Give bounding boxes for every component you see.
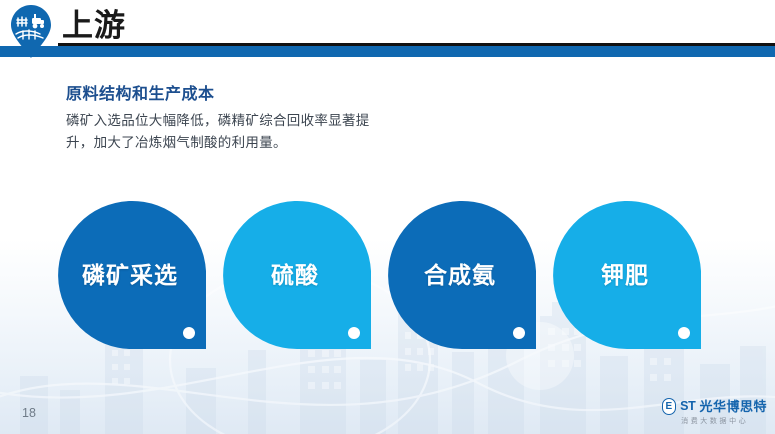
process-drop-row: 磷矿采选 硫酸 合成氨 钾肥 (58, 197, 758, 352)
teardrop-shape-icon (223, 197, 371, 349)
drop-dot-3 (513, 327, 525, 339)
drop-fill-3 (388, 201, 536, 349)
drop-item-1[interactable]: 磷矿采选 (58, 197, 206, 349)
slide: 上游 原料结构和生产成本 磷矿入选品位大幅降低，磷精矿综合回收率显著提升，加大了… (0, 0, 775, 434)
drop-dot-1 (183, 327, 195, 339)
teardrop-shape-icon (553, 197, 701, 349)
footer-logo-subtitle: 消费大数据中心 (681, 418, 748, 425)
drop-dot-2 (348, 327, 360, 339)
drop-item-4[interactable]: 钾肥 (553, 197, 701, 349)
title-underline (58, 43, 775, 46)
page-title: 上游 (62, 6, 126, 46)
footer-logo-est: ST (680, 400, 695, 413)
footer-logo-mark-letter: E (665, 402, 672, 412)
header-accent-bar (0, 46, 775, 57)
drop-fill-2 (223, 201, 371, 349)
content-paragraph: 磷矿入选品位大幅降低，磷精矿综合回收率显著提升，加大了冶炼烟气制酸的利用量。 (66, 110, 396, 154)
drop-fill-1 (58, 201, 206, 349)
drop-item-3[interactable]: 合成氨 (388, 197, 536, 349)
best-logo-mark-icon: E (662, 398, 676, 415)
content-block: 原料结构和生产成本 磷矿入选品位大幅降低，磷精矿综合回收率显著提升，加大了冶炼烟… (66, 84, 486, 154)
teardrop-shape-icon (58, 197, 206, 349)
teardrop-shape-icon (388, 197, 536, 349)
content-heading: 原料结构和生产成本 (66, 84, 486, 106)
drop-fill-4 (553, 201, 701, 349)
footer-logo-cn: 光华博思特 (699, 400, 767, 414)
drop-item-2[interactable]: 硫酸 (223, 197, 371, 349)
footer-logo: E ST 光华博思特 消费大数据中心 (662, 398, 767, 425)
footer-logo-row: E ST 光华博思特 (662, 398, 767, 415)
page-number: 18 (22, 406, 36, 420)
drop-dot-4 (678, 327, 690, 339)
location-pin-agriculture-icon (10, 4, 52, 59)
